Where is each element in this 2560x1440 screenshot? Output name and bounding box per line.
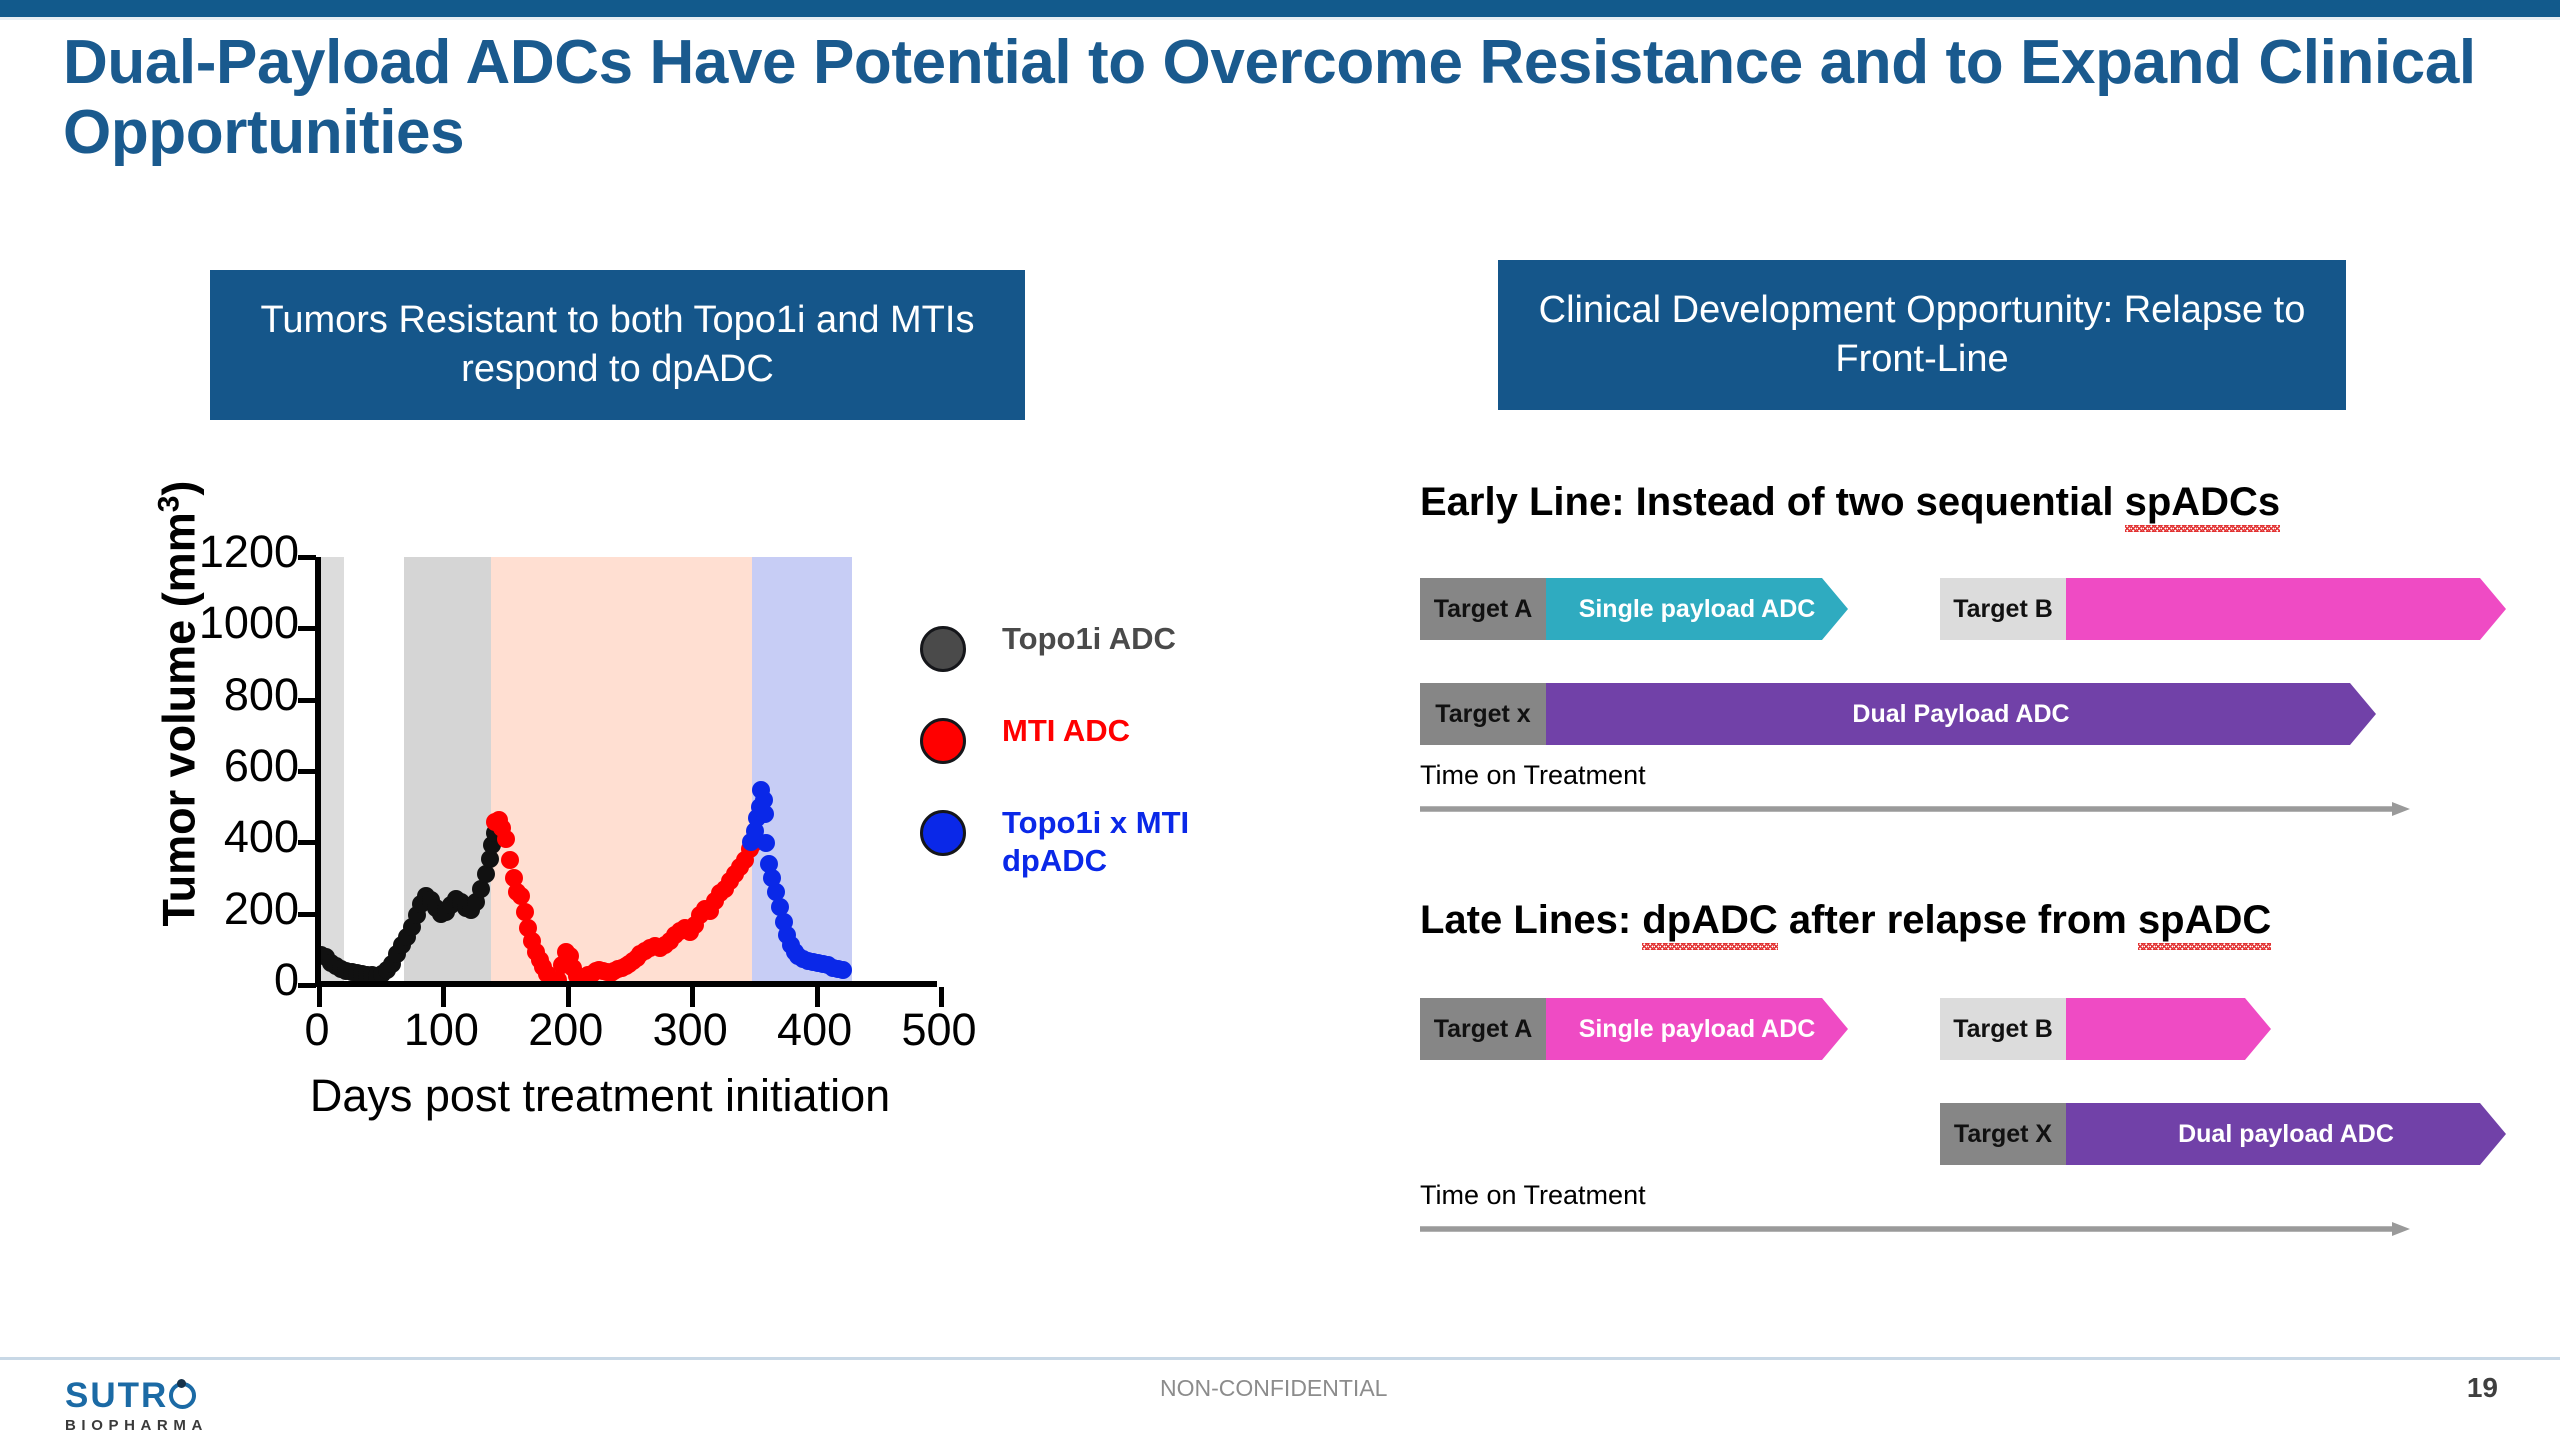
page-title: Dual-Payload ADCs Have Potential to Over… bbox=[63, 28, 2483, 168]
x-axis-label: Days post treatment initiation bbox=[240, 1070, 960, 1122]
dose-band-1 bbox=[317, 557, 344, 985]
spellcheck-flagged-word: spADC bbox=[2138, 898, 2271, 943]
heading-text: Early Line: Instead of two sequential bbox=[1420, 480, 2125, 524]
y-tick bbox=[298, 769, 316, 774]
right-panel-header: Clinical Development Opportunity: Relaps… bbox=[1498, 260, 2346, 410]
logo-o-icon bbox=[168, 1380, 198, 1411]
top-accent-hairline bbox=[0, 17, 2560, 20]
time-arrow-icon bbox=[1420, 1222, 2410, 1236]
sutro-biopharma-logo: SUTR BIOPHARMA bbox=[65, 1378, 295, 1434]
y-tick bbox=[298, 626, 316, 631]
time-arrow-icon bbox=[1420, 802, 2410, 816]
payload-arrow: Dual payload ADC bbox=[2066, 1103, 2506, 1165]
payload-arrow bbox=[2066, 578, 2506, 640]
y-tick bbox=[298, 698, 316, 703]
x-tick-label: 100 bbox=[376, 1004, 506, 1056]
legend-swatch-icon bbox=[920, 626, 966, 672]
legend-label: MTI ADC bbox=[1002, 712, 1130, 750]
chart-plot-area bbox=[317, 557, 939, 985]
page-number: 19 bbox=[2467, 1372, 2498, 1404]
legend-item: Topo1i ADC bbox=[920, 620, 1260, 712]
logo-subtitle: BIOPHARMA bbox=[65, 1417, 295, 1434]
spellcheck-flagged-word: dpADC bbox=[1642, 898, 1778, 943]
legend-item: Topo1i x MTI dpADC bbox=[920, 804, 1260, 896]
slide-canvas: Dual-Payload ADCs Have Potential to Over… bbox=[0, 0, 2560, 1440]
x-tick-label: 500 bbox=[874, 1004, 1004, 1056]
tumor-volume-chart: Tumor volume (mm3) Days post treatment i… bbox=[110, 540, 1060, 1160]
x-tick-label: 300 bbox=[625, 1004, 755, 1056]
time-on-treatment-label: Time on Treatment bbox=[1420, 760, 1646, 791]
target-label-box: Target A bbox=[1420, 998, 1546, 1060]
legend-swatch-icon bbox=[920, 810, 966, 856]
y-tick-label: 1000 bbox=[139, 597, 299, 649]
legend-item: MTI ADC bbox=[920, 712, 1260, 804]
logo-wordmark: SUTR bbox=[65, 1378, 295, 1413]
payload-arrow: Single payload ADC bbox=[1546, 578, 1848, 640]
y-tick-label: 0 bbox=[139, 954, 299, 1006]
y-tick-label: 600 bbox=[139, 740, 299, 792]
y-tick bbox=[298, 983, 316, 988]
legend-label: Topo1i ADC bbox=[1002, 620, 1176, 658]
y-tick-label: 400 bbox=[139, 811, 299, 863]
x-tick-label: 0 bbox=[252, 1004, 382, 1056]
target-label-box: Target B bbox=[1940, 578, 2066, 640]
spellcheck-flagged-word: spADCs bbox=[2125, 480, 2281, 525]
y-tick bbox=[298, 555, 316, 560]
data-point bbox=[512, 887, 530, 905]
data-point bbox=[756, 805, 774, 823]
treatment-bar: Target B bbox=[1940, 578, 2506, 640]
data-point bbox=[757, 834, 775, 852]
footer-divider bbox=[0, 1357, 2560, 1360]
y-tick bbox=[298, 840, 316, 845]
treatment-bar: Target ASingle payload ADC bbox=[1420, 998, 1848, 1060]
chart-legend: Topo1i ADCMTI ADCTopo1i x MTI dpADC bbox=[920, 620, 1260, 896]
y-tick bbox=[298, 912, 316, 917]
time-on-treatment-label: Time on Treatment bbox=[1420, 1180, 1646, 1211]
target-label-box: Target A bbox=[1420, 578, 1546, 640]
top-accent-bar bbox=[0, 0, 2560, 17]
treatment-bar: Target xDual Payload ADC bbox=[1420, 683, 2376, 745]
late-lines-heading: Late Lines: dpADC after relapse from spA… bbox=[1420, 898, 2271, 943]
target-label-box: Target B bbox=[1940, 998, 2066, 1060]
payload-arrow bbox=[2066, 998, 2271, 1060]
x-axis-line bbox=[315, 981, 937, 987]
dpadc-treatment-band bbox=[752, 557, 852, 985]
target-label-box: Target X bbox=[1940, 1103, 2066, 1165]
confidentiality-notice: NON-CONFIDENTIAL bbox=[1160, 1375, 1387, 1402]
data-point bbox=[516, 903, 534, 921]
x-tick-label: 400 bbox=[750, 1004, 880, 1056]
y-tick-label: 200 bbox=[139, 883, 299, 935]
y-tick-label: 800 bbox=[139, 669, 299, 721]
payload-arrow: Single payload ADC bbox=[1546, 998, 1848, 1060]
treatment-bar: Target ASingle payload ADC bbox=[1420, 578, 1848, 640]
treatment-bar: Target XDual payload ADC bbox=[1940, 1103, 2506, 1165]
treatment-bar: Target B bbox=[1940, 998, 2271, 1060]
clinical-development-diagram: Early Line: Instead of two sequential sp… bbox=[1420, 480, 2430, 1280]
payload-arrow: Dual Payload ADC bbox=[1546, 683, 2376, 745]
data-point bbox=[501, 851, 519, 869]
legend-label: Topo1i x MTI dpADC bbox=[1002, 804, 1189, 880]
legend-swatch-icon bbox=[920, 718, 966, 764]
target-label-box: Target x bbox=[1420, 683, 1546, 745]
left-panel-header: Tumors Resistant to both Topo1i and MTIs… bbox=[210, 270, 1025, 420]
logo-wordmark-text: SUTR bbox=[65, 1376, 168, 1415]
early-line-heading: Early Line: Instead of two sequential sp… bbox=[1420, 480, 2280, 525]
x-tick-label: 200 bbox=[501, 1004, 631, 1056]
y-tick-label: 1200 bbox=[139, 526, 299, 578]
